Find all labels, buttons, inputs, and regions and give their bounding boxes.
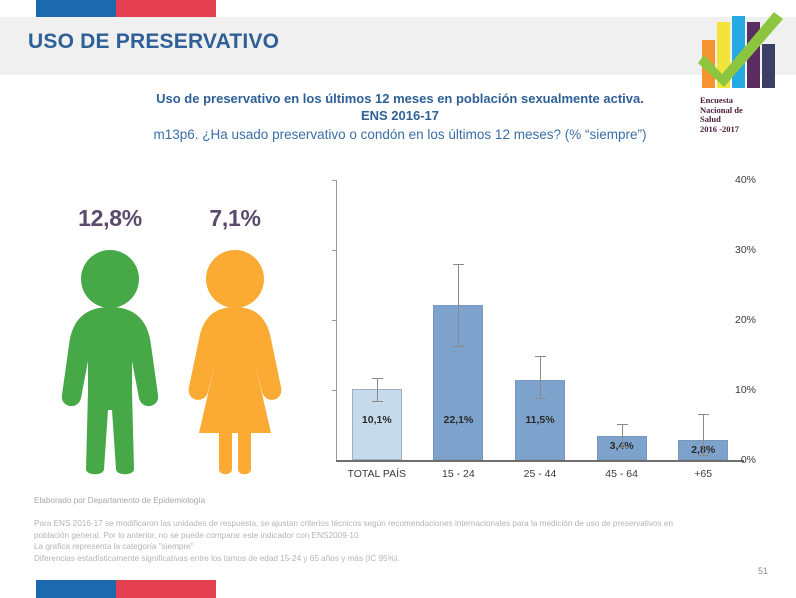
top-bar-blue <box>36 0 116 17</box>
top-bar-red <box>116 0 216 17</box>
error-bar-cap-upper <box>698 414 709 415</box>
footnote-author: Elaborado por Departamento de Epidemiolo… <box>34 496 205 505</box>
female-figure-icon <box>175 245 295 475</box>
bottom-flag-bars <box>36 580 216 598</box>
bottom-bar-blue <box>36 580 116 598</box>
chart-heading-line-3: m13p6. ¿Ha usado preservativo o condón e… <box>60 125 740 144</box>
footnote-line-3: La grafica representa la categoría "siem… <box>34 541 754 553</box>
error-bar-cap-upper <box>372 378 383 379</box>
error-bar <box>703 414 704 455</box>
x-axis-category-label: 15 - 24 <box>418 468 500 480</box>
footnote-line-2: población general. Por lo anterior, no s… <box>34 530 754 542</box>
x-axis-category-label: TOTAL PAÍS <box>336 468 418 480</box>
error-bar-cap-lower <box>372 401 383 402</box>
pictogram-group: 12,8% 7,1% <box>30 205 295 475</box>
bar-chart: 0%10%20%30%40% 10,1%22,1%11,5%3,4%2,8% T… <box>296 170 756 480</box>
x-axis-line <box>336 460 744 462</box>
error-bar-cap-upper <box>535 356 546 357</box>
footnote-line-4: Diferencias estadísticamente significati… <box>34 553 754 565</box>
error-bar-cap-lower <box>698 455 709 456</box>
x-axis-category-label: 45 - 64 <box>581 468 663 480</box>
error-bar-cap-lower <box>535 398 546 399</box>
page-title: USO DE PRESERVATIVO <box>28 30 279 54</box>
bar-value-label: 10,1% <box>352 414 402 426</box>
error-bar-cap-upper <box>617 424 628 425</box>
male-figure-icon <box>50 245 170 475</box>
error-bar <box>622 424 623 447</box>
footnote-line-1: Para ENS 2016-17 se modificaron las unid… <box>34 518 754 530</box>
bar-value-label: 22,1% <box>433 414 483 426</box>
footnote-block: Para ENS 2016-17 se modificaron las unid… <box>34 518 754 564</box>
chart-heading-line-2: ENS 2016-17 <box>60 107 740 124</box>
bar-value-label: 11,5% <box>515 414 565 426</box>
female-percentage: 7,1% <box>175 205 295 232</box>
error-bar-cap-lower <box>617 447 628 448</box>
chart-heading: Uso de preservativo en los últimos 12 me… <box>60 90 740 144</box>
bottom-bar-red <box>116 580 216 598</box>
logo-graphic <box>690 8 790 98</box>
x-axis-category-label: +65 <box>662 468 744 480</box>
slide: USO DE PRESERVATIVO Encuesta Nacional de… <box>0 0 796 598</box>
male-percentage: 12,8% <box>50 205 170 232</box>
error-bar-cap-lower <box>453 346 464 347</box>
top-flag-bars <box>36 0 216 17</box>
error-bar <box>458 264 459 346</box>
chart-heading-line-1: Uso de preservativo en los últimos 12 me… <box>60 90 740 107</box>
error-bar-cap-upper <box>453 264 464 265</box>
error-bar <box>377 378 378 401</box>
plot-area: 10,1%22,1%11,5%3,4%2,8% <box>336 180 744 460</box>
page-number: 51 <box>758 566 768 576</box>
x-axis-category-label: 25 - 44 <box>499 468 581 480</box>
error-bar <box>540 356 541 397</box>
